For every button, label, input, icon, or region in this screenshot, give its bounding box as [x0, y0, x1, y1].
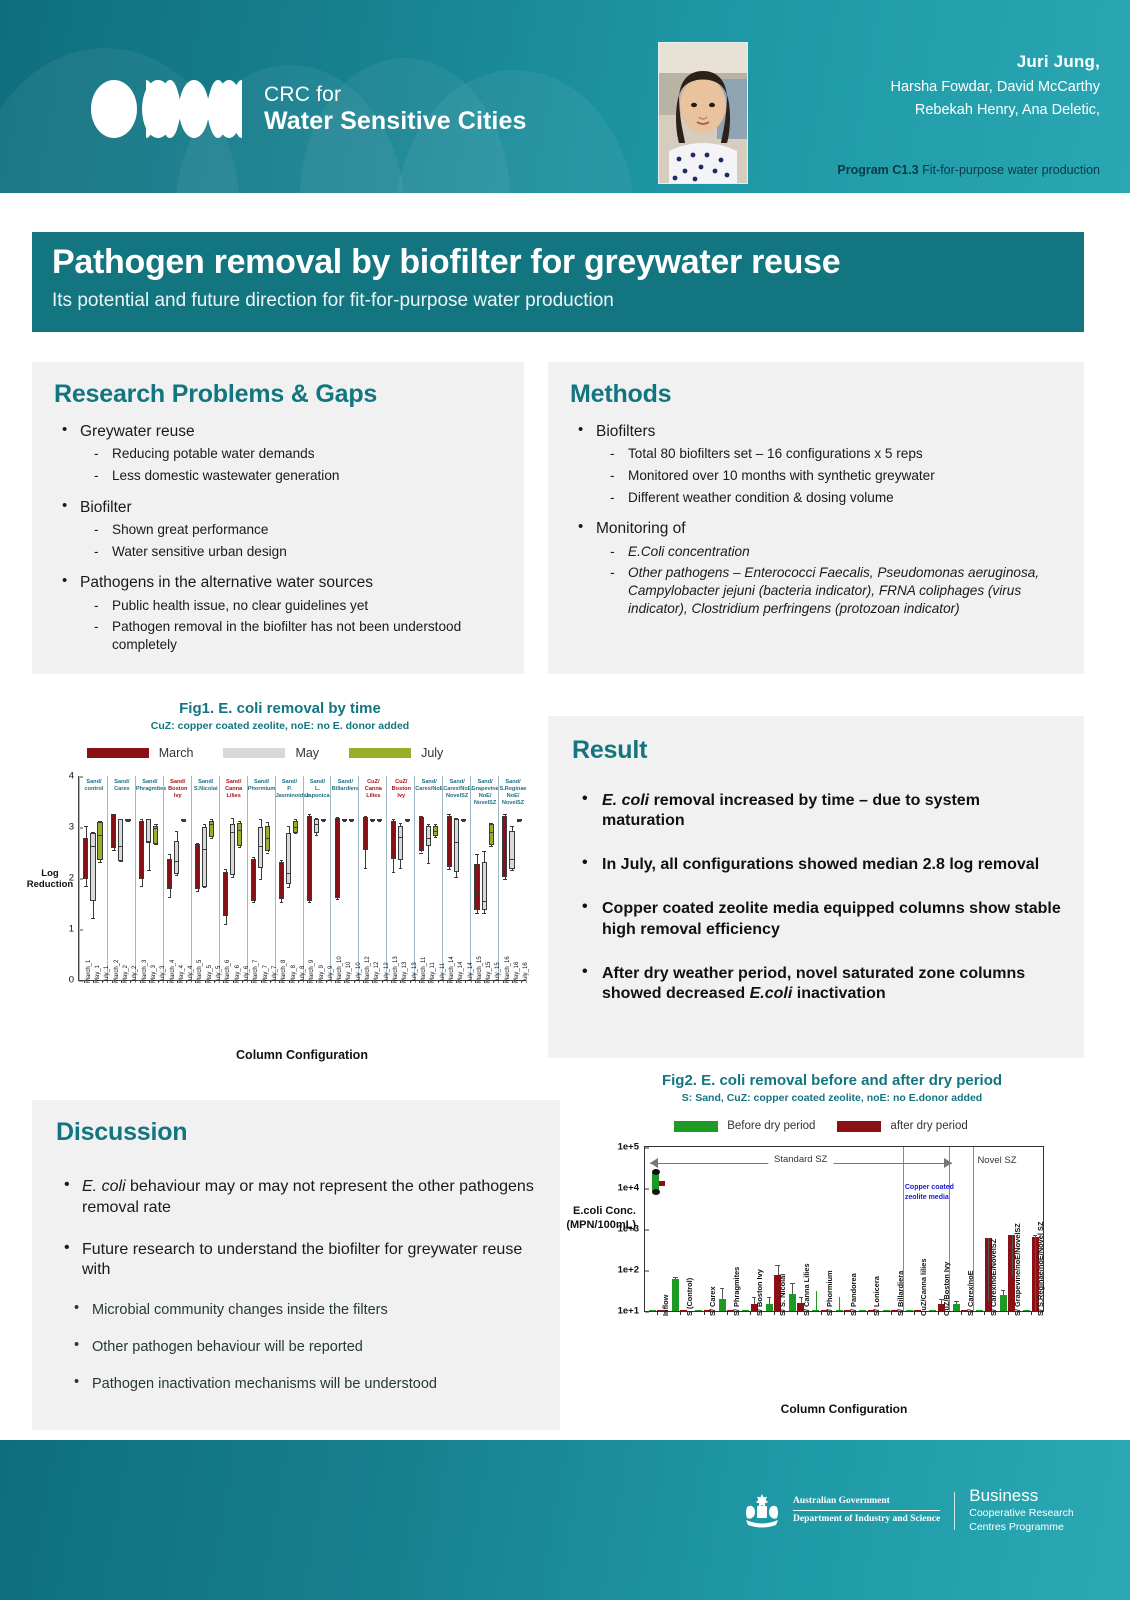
- fig1-box: [139, 821, 144, 879]
- fig1-box: [83, 838, 88, 879]
- fig1-whisker-cap: [252, 902, 255, 903]
- fig2-title: Fig2. E. coli removal before and after d…: [552, 1072, 1112, 1089]
- fig1-box: [195, 844, 200, 889]
- list-item: Other pathogen behaviour will be reporte…: [56, 1339, 538, 1355]
- fig1-x-tick: [438, 980, 439, 983]
- fig1-box: [398, 826, 403, 860]
- fig1-whisker-cap: [84, 826, 87, 827]
- crc-logo: CRC for Water Sensitive Cities: [88, 78, 526, 140]
- fig1-median: [258, 846, 263, 847]
- fig1-whisker-cap: [98, 862, 101, 863]
- fig1-column-label: Sand/control: [80, 779, 108, 793]
- fig1-y-tick: 1: [69, 924, 79, 935]
- business-crc-text: Business Cooperative Research Centres Pr…: [969, 1487, 1073, 1535]
- fig1-whisker-cap: [399, 823, 402, 824]
- fig1-whisker-cap: [84, 886, 87, 887]
- fig1-x-tick: [428, 980, 429, 983]
- fig1-x-tick-label: July_13: [412, 962, 418, 983]
- fig2-x-tick: [680, 1311, 681, 1315]
- biz-line-2: Cooperative Research Centres Programme: [969, 1507, 1073, 1535]
- fig1-x-tick-label: March_11: [421, 957, 427, 983]
- fig1-median: [230, 832, 235, 833]
- list-item: E. coli behaviour may or may not represe…: [56, 1177, 538, 1219]
- fig1-column-label: Sand/CannaLilies: [220, 779, 248, 800]
- fig1-x-axis-title: Column Configuration: [78, 1048, 526, 1062]
- fig1-whisker-cap: [196, 891, 199, 892]
- fig1-whisker-cap: [287, 887, 290, 888]
- fig1-x-tick: [233, 980, 234, 983]
- fig2-bar-before: [953, 1304, 960, 1311]
- fig1-x-tick: [93, 980, 94, 983]
- fig1-x-tick: [102, 980, 103, 983]
- fig1-x-tick: [465, 980, 466, 983]
- fig1-box: [174, 841, 179, 874]
- program-text: Fit-for-purpose water production: [922, 163, 1100, 177]
- fig1-x-tick: [391, 980, 392, 983]
- list-item: Pathogen inactivation mechanisms will be…: [56, 1376, 538, 1392]
- fig1-median: [461, 820, 466, 821]
- fig1-x-tick-label: March_1: [86, 960, 92, 983]
- list-item: Greywater reuse Reducing potable water d…: [54, 422, 504, 485]
- fig1-whisker-cap: [175, 831, 178, 832]
- panel-methods: Methods Biofilters Total 80 biofilters s…: [548, 362, 1084, 674]
- fig1-x-tick-label: July_16: [523, 962, 529, 983]
- fig1-median: [209, 824, 214, 825]
- fig1-median: [223, 901, 228, 902]
- fig1-x-tick: [512, 980, 513, 983]
- fig1-x-tick: [279, 980, 280, 983]
- fig2-bar-before: [766, 1304, 773, 1311]
- title-banner: Pathogen removal by biofilter for greywa…: [32, 232, 1084, 332]
- fig1-x-tick: [214, 980, 215, 983]
- legend-label-march: March: [159, 746, 194, 760]
- fig1-median: [405, 820, 410, 821]
- fig1-box: [251, 859, 256, 901]
- fig1-median: [195, 864, 200, 865]
- fig1-x-tick-label: March_2: [114, 960, 120, 983]
- fig1-box: [426, 826, 431, 846]
- fig1-median: [502, 846, 507, 847]
- fig2-x-tick-label: S/ Lonicera: [872, 1276, 881, 1316]
- fig1-box: [209, 821, 214, 837]
- list-item: Future research to understand the biofil…: [56, 1240, 538, 1282]
- fig1-column-label: Sand/Carex: [108, 779, 136, 793]
- fig1-x-tick: [149, 980, 150, 983]
- figure-2: Fig2. E. coli removal before and after d…: [552, 1072, 1112, 1442]
- fig1-median: [335, 853, 340, 854]
- list-item: Shown great performance: [80, 521, 504, 539]
- fig1-x-tick: [270, 980, 271, 983]
- fig1-whisker-cap: [168, 854, 171, 855]
- logo-line-1: CRC for: [264, 84, 526, 106]
- research-item-label: Pathogens in the alternative water sourc…: [80, 574, 373, 591]
- fig1-median: [90, 846, 95, 847]
- legend-label-july: July: [421, 746, 443, 760]
- list-item: Reducing potable water demands: [80, 445, 504, 463]
- fig2-x-tick-label: S/ Carex: [708, 1286, 717, 1316]
- fig1-median: [83, 855, 88, 856]
- fig2-x-tick: [1031, 1311, 1032, 1315]
- fig2-novel-sz-annotation: Novel SZ: [977, 1155, 1016, 1166]
- fig1-x-tick-label: May_6: [235, 965, 241, 983]
- fig1-x-tick-label: May_10: [346, 962, 352, 983]
- fig1-x-tick: [456, 980, 457, 983]
- fig1-x-tick: [167, 980, 168, 983]
- fig1-whisker-cap: [112, 850, 115, 851]
- fig1-whisker-cap: [482, 913, 485, 914]
- fig2-y-tick: 1e+5: [618, 1142, 645, 1153]
- fig2-y-tick: 1e+1: [618, 1306, 645, 1317]
- fig1-whisker-cap: [308, 902, 311, 903]
- fig1-box: [509, 831, 514, 869]
- fig2-x-tick: [1008, 1311, 1009, 1315]
- fig2-x-tick: [914, 1311, 915, 1315]
- discussion-list: E. coli behaviour may or may not represe…: [56, 1177, 538, 1281]
- avatar: [659, 43, 747, 183]
- fig1-whisker-cap: [510, 870, 513, 871]
- fig1-column-label: Sand/BostonIvy: [164, 779, 192, 800]
- fig1-median: [363, 835, 368, 836]
- fig2-subtitle: S: Sand, CuZ: copper coated zeolite, noE…: [552, 1092, 1112, 1104]
- fig1-whisker-cap: [419, 853, 422, 854]
- fig1-x-tick: [521, 980, 522, 983]
- fig1-whisker-cap: [399, 868, 402, 869]
- fig1-x-tick-label: May_14: [458, 962, 464, 983]
- fig2-x-tick-label: S (Control): [685, 1278, 694, 1316]
- fig1-median: [118, 846, 123, 847]
- fig1-whisker-cap: [147, 870, 150, 871]
- list-item: Biofilter Shown great performance Water …: [54, 498, 504, 561]
- list-item: Different weather condition & dosing vol…: [596, 489, 1066, 507]
- list-item: Total 80 biofilters set – 16 configurati…: [596, 445, 1066, 463]
- fig2-y-tick: 1e+2: [618, 1265, 645, 1276]
- fig1-x-tick-label: July_9: [328, 966, 334, 983]
- page-subtitle: Its potential and future direction for f…: [52, 290, 1084, 312]
- fig2-x-tick: [938, 1311, 939, 1315]
- fig1-median: [391, 845, 396, 846]
- fig1-whisker-cap: [154, 844, 157, 845]
- fig2-x-tick: [891, 1311, 892, 1315]
- fig2-x-tick: [984, 1311, 985, 1315]
- legend-swatch-before: [674, 1121, 718, 1132]
- crc-logo-mark: [88, 78, 248, 140]
- list-item: Water sensitive urban design: [80, 543, 504, 561]
- fig2-baseline-stub: [883, 1310, 890, 1311]
- fig1-x-tick: [316, 980, 317, 983]
- fig1-x-tick-label: March_3: [142, 960, 148, 983]
- fig1-x-tick: [400, 980, 401, 983]
- fig2-baseline-stub: [1023, 1310, 1030, 1311]
- fig1-x-tick: [261, 980, 262, 983]
- fig2-bar-before: [789, 1294, 796, 1311]
- fig1-median: [237, 830, 242, 831]
- fig1-column-group: Sand/Carex/NoE: [414, 776, 443, 980]
- fig1-x-tick-label: March_5: [197, 960, 203, 983]
- fig1-column-label: CuZ/BostonIvy: [387, 779, 415, 800]
- fig1-x-tick-label: July_14: [468, 962, 474, 983]
- research-list: Greywater reuse Reducing potable water d…: [54, 422, 504, 654]
- fig1-box: [335, 818, 340, 899]
- fig1-x-tick-label: May_4: [179, 965, 185, 983]
- fig2-x-tick-label: S/ Canna Lilies: [802, 1263, 811, 1316]
- footer-divider: [954, 1492, 955, 1530]
- program-line: Program C1.3 Fit-for-purpose water produ…: [700, 163, 1100, 177]
- list-item: Pathogen removal in the biofilter has no…: [80, 618, 504, 653]
- fig1-x-tick: [205, 980, 206, 983]
- fig2-x-tick-label: S/ Phragmites: [732, 1267, 741, 1316]
- fig2-baseline-stub: [695, 1310, 702, 1311]
- result-heading: Result: [572, 736, 1062, 765]
- fig1-x-tick: [307, 980, 308, 983]
- fig1-whisker-cap: [427, 863, 430, 864]
- list-item: Other pathogens – Enterococci Faecalis, …: [596, 564, 1066, 617]
- fig1-median: [139, 853, 144, 854]
- fig1-x-tick-label: May_13: [402, 962, 408, 983]
- fig1-x-tick-label: March_4: [170, 960, 176, 983]
- methods-sublist: E.Coli concentration Other pathogens – E…: [596, 543, 1066, 618]
- fig1-x-tick-label: May_3: [151, 965, 157, 983]
- fig1-x-tick-label: May_9: [319, 965, 325, 983]
- fig1-median: [265, 838, 270, 839]
- fig1-whisker-cap: [315, 835, 318, 836]
- fig1-whisker-cap: [266, 822, 269, 823]
- fig1-x-tick: [242, 980, 243, 983]
- fig1-x-tick: [419, 980, 420, 983]
- fig2-error-cap: [954, 1301, 958, 1302]
- fig2-error-bar: [722, 1288, 723, 1298]
- fig1-x-tick: [484, 980, 485, 983]
- fig1-median: [125, 820, 130, 821]
- methods-item-label: Biofilters: [596, 423, 655, 440]
- fig1-x-tick-label: May_2: [123, 965, 129, 983]
- fig1-y-tick: 4: [69, 771, 79, 782]
- research-item-label: Biofilter: [80, 499, 132, 516]
- fig1-column-label: Sand/Carex/NoE/NovelSZ: [443, 779, 471, 800]
- fig2-error-cap: [1001, 1290, 1005, 1291]
- fig1-x-tick: [140, 980, 141, 983]
- fig2-x-tick: [867, 1311, 868, 1315]
- fig1-x-tick: [344, 980, 345, 983]
- fig1-box: [363, 817, 368, 850]
- fig1-legend: March May July: [20, 746, 540, 760]
- gov-line-2: Department of Industry and Science: [793, 1511, 940, 1526]
- fig1-box: [167, 859, 172, 890]
- logo-line-2: Water Sensitive Cities: [264, 108, 526, 134]
- fig1-y-tick: 3: [69, 822, 79, 833]
- fig1-whisker-cap: [238, 847, 241, 848]
- fig1-x-tick-label: March_8: [281, 960, 287, 983]
- fig2-error-bar: [816, 1291, 817, 1311]
- fig1-box: [118, 819, 123, 861]
- fig1-x-tick: [84, 980, 85, 983]
- fig1-x-tick: [121, 980, 122, 983]
- fig2-baseline-stub: [649, 1310, 656, 1311]
- fig1-whisker-cap: [489, 846, 492, 847]
- fig2-y-tick: 1e+4: [618, 1183, 645, 1194]
- fig1-whisker-cap: [482, 851, 485, 852]
- fig2-x-tick: [727, 1311, 728, 1315]
- fig1-x-tick-label: July_7: [272, 966, 278, 983]
- fig1-x-tick-label: March_7: [253, 960, 259, 983]
- fig1-x-tick-label: March_9: [309, 960, 315, 983]
- fig1-x-tick-label: July_10: [356, 962, 362, 983]
- fig1-box: [391, 821, 396, 859]
- list-item: Copper coated zeolite media equipped col…: [572, 899, 1062, 939]
- fig1-whisker-cap: [364, 868, 367, 869]
- fig1-box: [454, 819, 459, 872]
- fig2-plot-area: 1e+11e+21e+31e+41e+5Standard SZNovel SZC…: [644, 1146, 1044, 1312]
- fig1-median: [181, 820, 186, 821]
- fig1-median: [146, 841, 151, 842]
- fig1-x-tick-label: July_11: [440, 963, 446, 983]
- fig2-x-tick-label: S/ S.Reginae/noE/Novel SZ: [1036, 1222, 1045, 1316]
- fig1-median: [517, 820, 522, 821]
- fig2-x-tick-label: S/ Grapevine/noE/NovelSZ: [1013, 1223, 1022, 1316]
- fig1-x-tick-label: May_12: [374, 962, 380, 983]
- fig1-whisker-cap: [280, 902, 283, 903]
- fig1-whisker-cap: [287, 826, 290, 827]
- research-sublist: Shown great performance Water sensitive …: [80, 521, 504, 560]
- fig2-bar-before: [672, 1279, 679, 1311]
- fig1-x-tick-label: July_15: [495, 962, 501, 983]
- research-sublist: Reducing potable water demands Less dome…: [80, 445, 504, 484]
- fig1-box: [97, 822, 102, 860]
- fig1-x-tick-label: July_12: [384, 962, 390, 983]
- fig1-x-tick: [410, 980, 411, 983]
- fig1-x-tick: [289, 980, 290, 983]
- fig1-x-tick-label: July_2: [132, 966, 138, 983]
- fig2-standard-sz-annotation: Standard SZ: [650, 1157, 952, 1169]
- fig1-median: [202, 849, 207, 850]
- list-item: Monitored over 10 months with synthetic …: [596, 467, 1066, 485]
- fig2-x-tick: [704, 1311, 705, 1315]
- fig1-whisker-cap: [259, 819, 262, 820]
- fig1-column-label: Sand/Billardiera: [331, 779, 359, 793]
- fig1-x-tick: [447, 980, 448, 983]
- methods-list: Biofilters Total 80 biofilters set – 16 …: [570, 422, 1066, 617]
- fig1-x-tick: [326, 980, 327, 983]
- fig2-legend: Before dry period after dry period: [552, 1120, 1112, 1132]
- fig1-x-tick-label: March_12: [365, 956, 371, 983]
- author-name: Juri Jung,: [760, 52, 1100, 72]
- fig1-x-tick: [372, 980, 373, 983]
- fig1-whisker-cap: [475, 913, 478, 914]
- fig2-x-tick: [821, 1311, 822, 1315]
- fig1-column-label: Sand/GrapevineNoE/NovelSZ: [471, 779, 499, 807]
- fig1-whisker-cap: [119, 861, 122, 862]
- fig1-x-tick-label: March_10: [337, 956, 343, 983]
- fig1-box: [279, 862, 284, 900]
- fig1-x-tick: [112, 980, 113, 983]
- fig1-box: [307, 816, 312, 901]
- page-title: Pathogen removal by biofilter for greywa…: [52, 245, 1084, 281]
- fig2-baseline-stub: [976, 1310, 983, 1311]
- fig1-column-group: Sand/Carex: [107, 776, 136, 980]
- gov-line-1: Australian Government: [793, 1495, 940, 1511]
- fig1-x-tick: [503, 980, 504, 983]
- fig1-whisker-cap: [224, 869, 227, 870]
- fig2-error-bar: [839, 1297, 840, 1311]
- fig1-whisker-cap: [224, 924, 227, 925]
- fig1-x-tick-label: March_14: [449, 956, 455, 983]
- fig1-whisker-cap: [231, 877, 234, 878]
- fig1-median: [377, 820, 382, 821]
- fig1-x-tick-label: March_13: [393, 956, 399, 983]
- fig1-y-tick: 0: [69, 975, 79, 986]
- fig1-x-tick: [177, 980, 178, 983]
- fig1-x-tick-label: May_16: [514, 962, 520, 983]
- fig1-box: [482, 862, 487, 910]
- fig2-error-bar: [792, 1283, 793, 1294]
- fig1-column-label: Sand/Phormium: [248, 779, 276, 793]
- fig1-x-tick-label: May_15: [486, 962, 492, 983]
- fig1-whisker-cap: [140, 886, 143, 887]
- fig1-x-tick-label: July_4: [188, 966, 194, 983]
- fig2-bar-before: [719, 1299, 726, 1311]
- fig1-box: [237, 823, 242, 846]
- fig2-y-tick: 1e+3: [618, 1224, 645, 1235]
- fig1-subtitle: CuZ: copper coated zeolite, noE: no E. d…: [20, 720, 540, 732]
- fig1-column-label: Sand/L.Japonica: [304, 779, 332, 800]
- fig1-title: Fig1. E. coli removal by time: [20, 700, 540, 717]
- fig1-column-label: Sand/Carex/NoE: [415, 779, 443, 793]
- fig1-box: [489, 824, 494, 844]
- fig1-whisker-cap: [503, 879, 506, 880]
- fig2-x-tick-label: S/ Boston Ivy: [755, 1269, 764, 1316]
- fig1-median: [293, 827, 298, 828]
- fig1-x-tick: [158, 980, 159, 983]
- fig1-whisker-cap: [91, 918, 94, 919]
- fig2-baseline-stub: [906, 1310, 913, 1311]
- fig1-x-tick-label: July_3: [160, 966, 166, 983]
- fig2-error-cap: [790, 1283, 794, 1284]
- fig1-median: [433, 831, 438, 832]
- result-bullet-1-rest: removal increased by time – due to syste…: [602, 792, 980, 829]
- fig2-x-tick-label: CuZ/Canna lilies: [919, 1259, 928, 1317]
- fig1-x-tick-label: July_1: [104, 966, 110, 983]
- fig1-median: [167, 886, 172, 887]
- fig1-median: [97, 835, 102, 836]
- fig1-whisker-cap: [447, 869, 450, 870]
- research-item-label: Greywater reuse: [80, 423, 195, 440]
- biz-line-1: Business: [969, 1487, 1073, 1505]
- fig2-x-tick-label: S/ Carex/noE: [966, 1270, 975, 1316]
- fig1-box: [474, 864, 479, 910]
- fig1-whisker-cap: [203, 824, 206, 825]
- fig1-x-tick-label: March_6: [225, 960, 231, 983]
- research-heading: Research Problems & Gaps: [54, 380, 504, 409]
- list-item: After dry weather period, novel saturate…: [572, 964, 1062, 1004]
- fig1-y-tick: 2: [69, 873, 79, 884]
- fig1-x-tick-label: March_16: [505, 956, 511, 983]
- fig2-baseline-stub: [859, 1310, 866, 1311]
- legend-label-after: after dry period: [890, 1120, 967, 1132]
- fig1-median: [419, 842, 424, 843]
- fig1-whisker-cap: [454, 877, 457, 878]
- panel-result: Result E. coli removal increased by time…: [548, 716, 1084, 1058]
- fig1-median: [314, 824, 319, 825]
- fig1-x-tick: [130, 980, 131, 983]
- fig1-column-group: Sand/Carex/NoE/NovelSZ: [442, 776, 471, 980]
- poster-header: CRC for Water Sensitive Cities: [0, 0, 1130, 193]
- fig1-column-group: Sand/S.ReginaeNoE/NovelSZ: [498, 776, 527, 980]
- fig1-x-tick: [335, 980, 336, 983]
- fig1-column-label: Sand/S.ReginaeNoE/NovelSZ: [499, 779, 527, 807]
- fig1-whisker-cap: [266, 853, 269, 854]
- fig1-box: [258, 827, 263, 868]
- fig1-x-tick: [354, 980, 355, 983]
- fig1-box: [286, 833, 291, 884]
